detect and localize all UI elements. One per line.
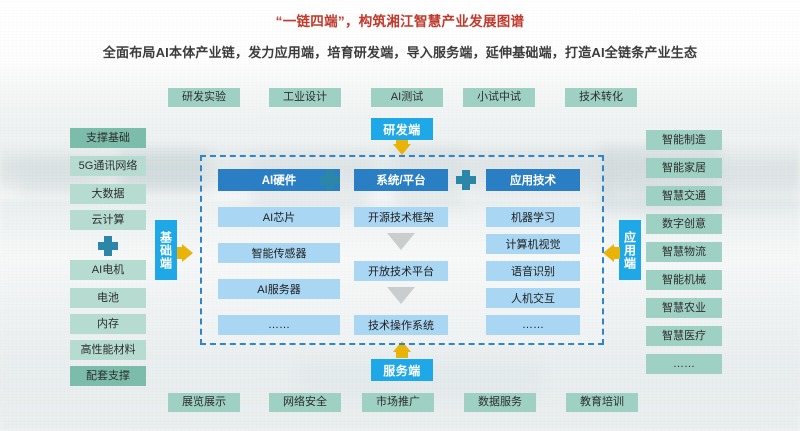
- end-label-service[interactable]: 服务端: [371, 359, 433, 381]
- bottom-row-item-4[interactable]: 教育培训: [566, 393, 638, 412]
- end-label-rd[interactable]: 研发端: [371, 118, 433, 140]
- core-col-0-cell-3[interactable]: ……: [218, 315, 340, 335]
- end-label-foundation[interactable]: 基础端: [155, 220, 177, 280]
- plus-icon: [320, 170, 340, 190]
- core-col-2-cell-0[interactable]: 机器学习: [486, 207, 580, 227]
- core-col-2-cell-2[interactable]: 语音识别: [486, 261, 580, 281]
- core-col-0-cell-1[interactable]: 智能传感器: [218, 243, 340, 263]
- bottom-row-item-2[interactable]: 市场推广: [362, 393, 434, 412]
- plus-icon: [456, 170, 476, 190]
- flow-arrow-down-icon: [387, 287, 415, 304]
- top-row-item-1[interactable]: 工业设计: [269, 88, 341, 107]
- bottom-row-item-1[interactable]: 网络安全: [269, 393, 341, 412]
- right-item-smart-machinery[interactable]: 智能机械: [646, 270, 722, 290]
- core-col-2-cell-1[interactable]: 计算机视觉: [486, 234, 580, 254]
- right-item-smart-transport[interactable]: 智慧交通: [646, 186, 722, 206]
- left-item-support-base[interactable]: 支撑基础: [70, 128, 146, 148]
- right-item-digital-creative[interactable]: 数字创意: [646, 214, 722, 234]
- left-item-memory[interactable]: 内存: [70, 314, 146, 334]
- right-item-smart-healthcare[interactable]: 智慧医疗: [646, 326, 722, 346]
- left-item-ai-motor[interactable]: AI电机: [70, 260, 146, 280]
- flow-arrow-down-icon: [387, 233, 415, 250]
- left-item-supporting[interactable]: 配套支撑: [70, 366, 146, 386]
- bottom-row-item-3[interactable]: 数据服务: [464, 393, 536, 412]
- left-item-big-data[interactable]: 大数据: [70, 184, 146, 204]
- left-item-high-perf-material[interactable]: 高性能材料: [70, 340, 146, 360]
- arrow-down-icon: [393, 144, 411, 155]
- core-col-1-header[interactable]: 系统/平台: [354, 169, 448, 191]
- core-col-2-cell-4[interactable]: ……: [486, 315, 580, 335]
- page-subtitle: 全面布局AI本体产业链，发力应用端，培育研发端，导入服务端，延伸基础端，打造AI…: [0, 42, 800, 61]
- infographic-canvas: “一链四端”，构筑湘江智慧产业发展图谱 全面布局AI本体产业链，发力应用端，培育…: [0, 0, 800, 431]
- core-chain-box: AI硬件 AI芯片 智能传感器 AI服务器 …… 系统/平台 开源技术框架 开放…: [200, 155, 604, 345]
- arrow-left-icon: [603, 244, 614, 262]
- arrow-stem-right: [614, 247, 620, 259]
- core-col-1-cell-1[interactable]: 开放技术平台: [354, 261, 448, 281]
- page-title: “一链四端”，构筑湘江智慧产业发展图谱: [0, 10, 800, 30]
- top-row-item-0[interactable]: 研发实验: [168, 88, 240, 107]
- core-col-1-cell-2[interactable]: 技术操作系统: [354, 315, 448, 335]
- left-item-cloud-computing[interactable]: 云计算: [70, 210, 146, 230]
- right-item-smart-logistics[interactable]: 智慧物流: [646, 242, 722, 262]
- left-item-battery[interactable]: 电池: [70, 288, 146, 308]
- core-col-2-header[interactable]: 应用技术: [486, 169, 580, 191]
- right-item-smart-manufacturing[interactable]: 智能制造: [646, 130, 722, 150]
- left-item-5g-network[interactable]: 5G通讯网络: [70, 156, 146, 176]
- plus-icon: [98, 236, 118, 256]
- bottom-row-item-0[interactable]: 展览展示: [168, 393, 240, 412]
- right-item-more[interactable]: ……: [646, 354, 722, 374]
- end-label-application[interactable]: 应用端: [619, 220, 641, 280]
- top-row-item-4[interactable]: 技术转化: [565, 88, 637, 107]
- core-col-2-cell-3[interactable]: 人机交互: [486, 288, 580, 308]
- core-col-0-cell-2[interactable]: AI服务器: [218, 279, 340, 299]
- arrow-stem-bottom: [396, 352, 408, 358]
- top-row-item-3[interactable]: 小试中试: [463, 88, 535, 107]
- right-item-smart-agriculture[interactable]: 智慧农业: [646, 298, 722, 318]
- right-item-smart-home[interactable]: 智能家居: [646, 158, 722, 178]
- top-row-item-2[interactable]: AI测试: [371, 88, 443, 107]
- core-col-1-cell-0[interactable]: 开源技术框架: [354, 207, 448, 227]
- arrow-right-icon: [182, 244, 193, 262]
- core-col-0-cell-0[interactable]: AI芯片: [218, 207, 340, 227]
